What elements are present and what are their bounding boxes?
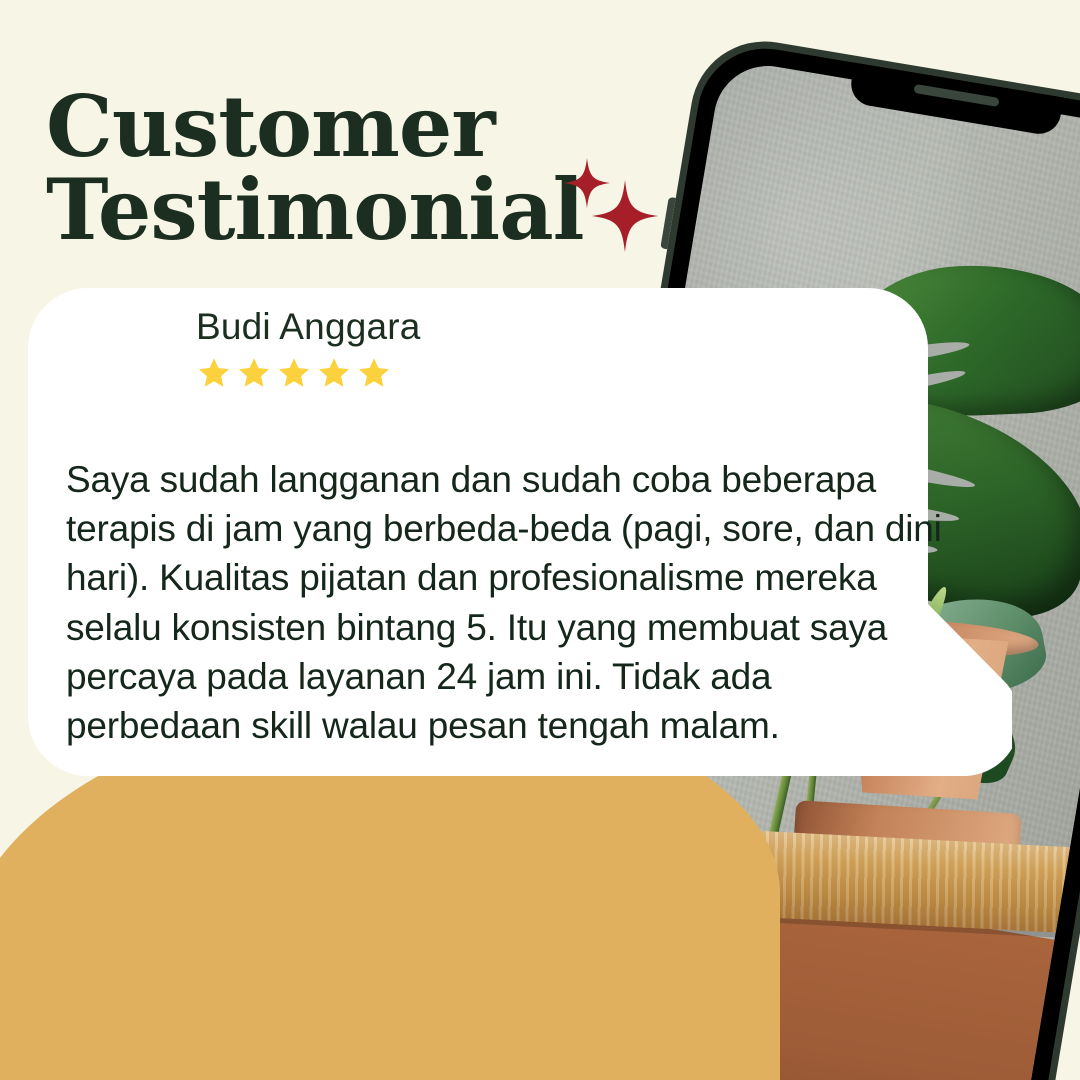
testimonial-poster: Customer Testimonial Budi Anggara <box>0 0 1080 1080</box>
testimonial-bubble: Budi Anggara Saya sudah langganan <box>28 288 1012 788</box>
star-filled-icon <box>356 356 392 390</box>
bubble-content: Budi Anggara Saya sudah langganan <box>28 288 1012 788</box>
star-filled-icon <box>276 356 312 390</box>
star-filled-icon <box>236 356 272 390</box>
sparkle-icons-group <box>556 150 666 260</box>
rating-stars <box>196 356 392 390</box>
star-filled-icon <box>196 356 232 390</box>
testimonial-quote: Saya sudah langganan dan sudah coba bebe… <box>66 455 956 750</box>
star-filled-icon <box>316 356 352 390</box>
reviewer-name: Budi Anggara <box>196 306 421 348</box>
orange-decorative-shape-base <box>0 880 720 1080</box>
sparkle-four-point-small-icon <box>564 158 610 208</box>
sparkle-four-point-large-icon <box>592 180 658 252</box>
